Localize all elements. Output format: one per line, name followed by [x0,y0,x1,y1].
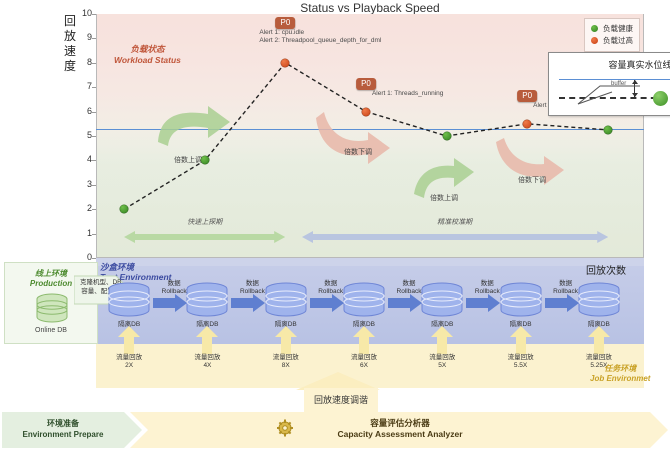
job-environment-label: 任务环境 Job Environmet [590,364,650,384]
replay-count-label: 回放次数 [586,262,626,277]
alert-annotation: Alert 1: cpu.idleAlert 2: Threadpool_que… [259,29,381,45]
rollback-arrow-icon [310,294,344,312]
chart-panel: Status vs Playback Speed 012345678910 01… [96,14,644,258]
replay-up-arrow-icon [431,326,453,354]
data-point-bad[interactable] [281,58,290,67]
legend-item-good: 负载健康 [591,23,633,34]
replay-up-arrow-icon [353,326,375,354]
isolated-db-icon [576,282,622,318]
y-tick-label: 4 [68,154,92,164]
replay-label-cn: 流量回放 [178,354,236,362]
db-node[interactable]: 隔离DB [576,282,622,323]
replay-speed-label: 流量回放4X [178,354,236,370]
phase-arrow: 快速上探期 [124,230,285,244]
y-tick-label: 3 [68,179,92,189]
y-axis-title: 回放速度 [62,14,78,74]
replay-speed-arrow [275,326,297,352]
footer-prepare-text: 环境准备 Environment Prepare [2,418,124,440]
trend-arrow-up [414,158,474,198]
trend-arrow-label: 倍数下调 [344,147,372,156]
replay-speed-label: 流量回放5.5X [492,354,550,370]
legend-dot-bad-icon [591,37,598,44]
db-node[interactable]: 隔离DB [498,282,544,323]
replay-speed-label: 流量回放2X [100,354,158,370]
data-point-good[interactable] [200,156,209,165]
isolated-db-icon [184,282,230,318]
phase-arrow-svg [302,230,608,244]
p0-badge[interactable]: P0 [517,90,537,102]
isolated-db-icon [341,282,387,318]
alert-line: Alert 1: cpu.idle [259,29,381,37]
db-node[interactable]: 隔离DB [106,282,152,323]
replay-label-cn: 流量回放 [570,354,628,362]
trend-arrow-label: 倍数上调 [430,193,458,202]
online-db-icon [35,293,69,323]
replay-up-arrow-icon [588,326,610,354]
alert-annotation: Alert 1: Threads_running [372,90,443,98]
replay-up-arrow-icon [196,326,218,354]
isolated-db-icon [106,282,152,318]
rollback-arrow-icon [545,294,579,312]
replay-label-cn: 流量回放 [100,354,158,362]
chart-title: Status vs Playback Speed [96,1,644,15]
replay-label-cn: 流量回放 [413,354,471,362]
data-point-good[interactable] [442,132,451,141]
job-env-en: Job Environmet [590,374,650,384]
isolated-db-icon [498,282,544,318]
callout-waterline [559,79,670,80]
db-node[interactable]: 隔离DB [184,282,230,323]
legend-item-bad: 负载过高 [591,35,633,46]
replay-speed-arrow [431,326,453,352]
rollback-arrow-icon [466,294,500,312]
callout-dashed-series [559,97,667,99]
footer-prepare-cn: 环境准备 [2,418,124,429]
y-axis-title-char: 放 [62,29,78,44]
phase-arrow-label: 快速上探期 [124,217,285,227]
footer-prepare-en: Environment Prepare [2,429,124,440]
replay-speed-label: 流量回放6X [335,354,393,370]
rollback-arrow-icon [153,294,187,312]
trend-arrow-label: 倍数上调 [174,155,202,164]
alert-line: Alert 1: Threads_running [372,90,443,98]
replay-speed-arrow [118,326,140,352]
replay-speed-value: 5X [413,362,471,370]
data-point-bad[interactable] [361,107,370,116]
replay-speed-value: 6X [335,362,393,370]
replay-up-arrow-icon [510,326,532,354]
replay-label-cn: 流量回放 [492,354,550,362]
job-env-cn: 任务环境 [590,364,650,374]
waterline-callout: 容量真实水位线 buffer [548,52,670,116]
callout-buffer-arrow-icon [634,80,635,97]
replay-speed-value: 8X [257,362,315,370]
phase-arrow-svg [124,230,285,244]
callout-title: 容量真实水位线 [549,58,670,71]
rollback-arrow-icon [388,294,422,312]
data-point-good[interactable] [120,205,129,214]
rollback-arrow-icon [231,294,265,312]
data-point-good[interactable] [603,125,612,134]
y-tick-label: 1 [68,228,92,238]
p0-badge[interactable]: P0 [356,78,376,90]
alert-line: Alert 2: Threadpool_queue_depth_for_dml [259,37,381,45]
replay-up-arrow-icon [118,326,140,354]
y-tick-label: 5 [68,130,92,140]
callout-good-point-icon [653,91,668,106]
chart-legend: 负载健康 负载过高 [584,18,640,52]
db-node[interactable]: 隔离DB [263,282,309,323]
replay-speed-value: 2X [100,362,158,370]
legend-label-good: 负载健康 [603,23,633,34]
replay-speed-label: 流量回放5X [413,354,471,370]
online-db-label: Online DB [5,327,97,334]
replay-label-cn: 流量回放 [335,354,393,362]
p0-badge[interactable]: P0 [275,17,295,29]
replay-speed-arrow [588,326,610,352]
isolated-db-icon [419,282,465,318]
legend-dot-good-icon [591,25,598,32]
replay-speed-label: 流量回放8X [257,354,315,370]
phase-arrow: 精准校准期 [302,230,608,244]
replay-speed-value: 4X [178,362,236,370]
phase-arrow-shape [302,231,608,243]
replay-speed-arrow [353,326,375,352]
y-tick-label: 7 [68,81,92,91]
data-point-bad[interactable] [523,119,532,128]
y-axis-title-char: 回 [62,14,78,29]
db-node[interactable]: 隔离DB [341,282,387,323]
replay-label-cn: 流量回放 [257,354,315,362]
trend-arrow-up [158,106,230,146]
footer-analyzer-en: Capacity Assessment Analyzer [250,429,550,440]
replay-speed-arrow [510,326,532,352]
y-tick-label: 0 [68,252,92,262]
phase-arrow-label: 精准校准期 [302,217,608,227]
replay-speed-arrow [196,326,218,352]
test-env-cn: 沙盒环境 [100,262,171,272]
replay-up-arrow-icon [275,326,297,354]
legend-label-bad: 负载过高 [603,35,633,46]
footer-analyzer-cn: 容量评估分析器 [250,418,550,429]
footer-analyzer-text: 容量评估分析器 Capacity Assessment Analyzer [250,418,550,440]
y-axis-title-char: 速 [62,44,78,59]
isolated-db-icon [263,282,309,318]
trend-arrow-down [316,112,390,164]
tuner-wrap: 回放速度调谐 [280,376,396,412]
y-tick-label: 6 [68,106,92,116]
y-tick-label: 2 [68,203,92,213]
db-node[interactable]: 隔离DB [419,282,465,323]
trend-arrow-label: 倍数下调 [518,175,546,184]
tuner-label: 回放速度调谐 [304,393,378,406]
replay-speed-value: 5.5X [492,362,550,370]
y-axis-title-char: 度 [62,59,78,74]
callout-buffer-label: buffer [611,81,626,87]
phase-arrow-shape [124,231,285,243]
